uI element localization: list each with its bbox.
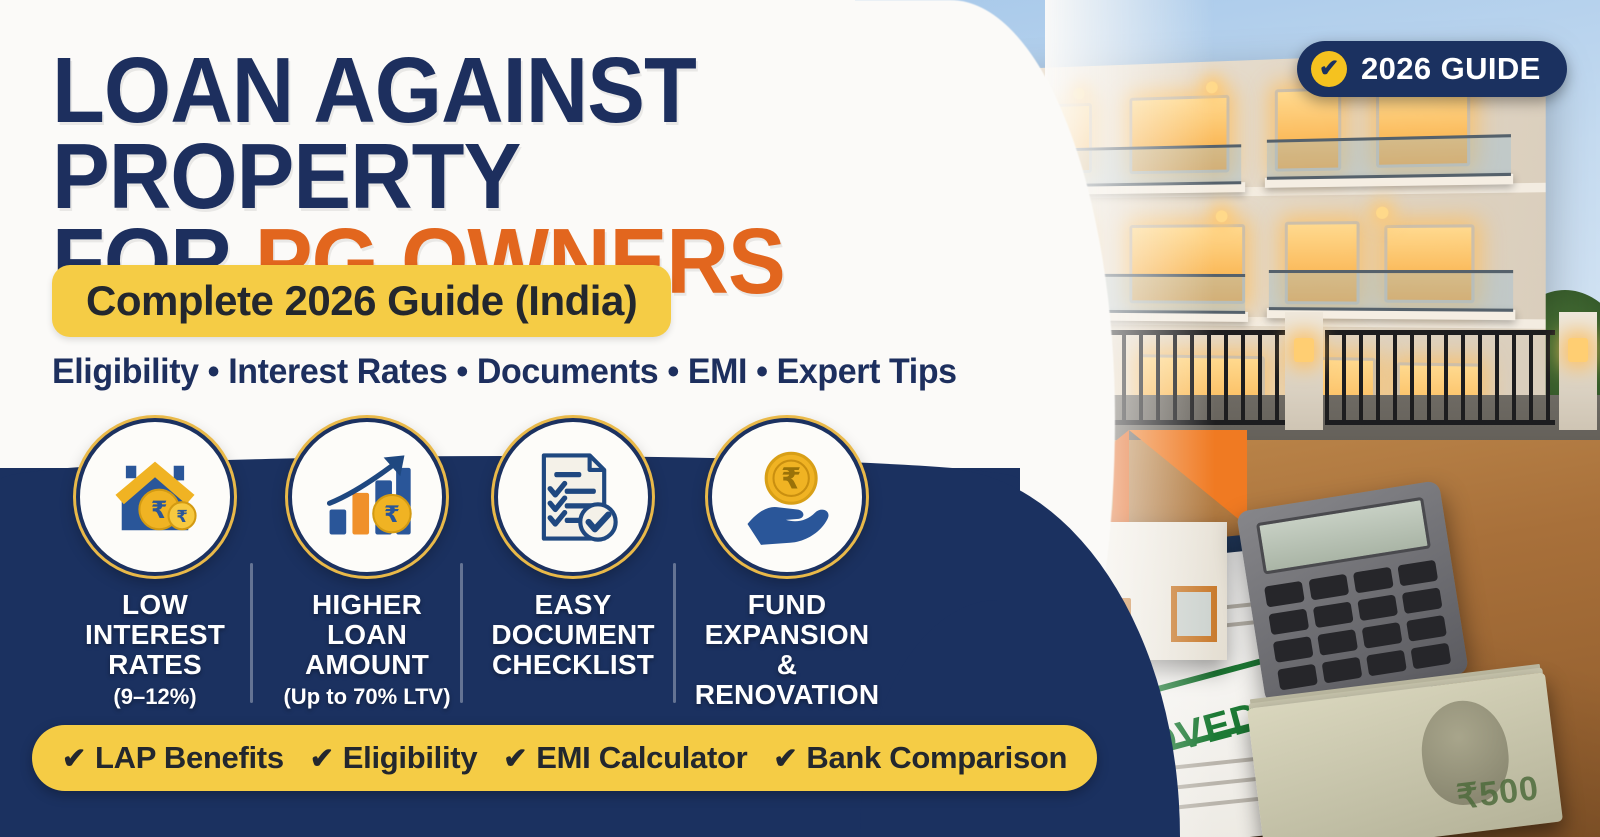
document-checklist-icon: [494, 418, 652, 576]
check-icon: ✔: [503, 741, 527, 776]
feature-easy-document-checklist: EASY DOCUMENT CHECKLIST: [473, 418, 673, 684]
check-icon: ✔: [62, 741, 86, 776]
headline-line-1: LOAN AGAINST PROPERTY: [52, 48, 991, 219]
fence: [1325, 330, 1555, 425]
feature-title: EASY DOCUMENT CHECKLIST: [473, 590, 673, 680]
feature-title-line: EASY: [473, 590, 673, 620]
feature-title-line: RATES: [55, 650, 255, 680]
cta-item-eligibility[interactable]: ✔ Eligibility: [310, 740, 478, 776]
feature-title-line: EXPANSION: [687, 620, 887, 650]
gate-pillar: [1285, 312, 1323, 430]
guide-badge-label: 2026 GUIDE: [1361, 51, 1541, 87]
subtitle-pill: Complete 2026 Guide (India): [52, 265, 671, 337]
check-circle-icon: ✔: [1311, 51, 1347, 87]
feature-title-line: HIGHER: [267, 590, 467, 620]
svg-text:₹: ₹: [151, 496, 168, 524]
house-rupee-icon: ₹ ₹: [76, 418, 234, 576]
feature-subtitle: (9–12%): [55, 684, 255, 710]
feature-columns: ₹ ₹ LOW INTEREST RATES (9–12%): [55, 418, 905, 718]
feature-fund-expansion-renovation: ₹ FUND EXPANSION & RENOVATION: [687, 418, 887, 714]
feature-title: LOW INTEREST RATES: [55, 590, 255, 680]
svg-text:₹: ₹: [384, 502, 400, 528]
subtitle-text: Complete 2026 Guide (India): [86, 277, 637, 325]
lap-pg-owners-banner: LOAN APPROVED: [0, 0, 1600, 837]
hand-rupee-coin-icon: ₹: [708, 418, 866, 576]
feature-title: HIGHER LOAN AMOUNT: [267, 590, 467, 680]
check-icon: ✔: [773, 741, 797, 776]
feature-subtitle: (Up to 70% LTV): [267, 684, 467, 710]
cta-item-emi-calculator[interactable]: ✔ EMI Calculator: [503, 740, 747, 776]
svg-text:₹: ₹: [176, 507, 188, 526]
calculator: [1236, 480, 1469, 705]
check-icon: ✔: [310, 741, 334, 776]
feature-title-line: FUND: [687, 590, 887, 620]
feature-title-line: LOAN: [267, 620, 467, 650]
feature-title-line: LOW: [55, 590, 255, 620]
svg-text:₹: ₹: [781, 462, 801, 496]
cta-item-lap-benefits[interactable]: ✔ LAP Benefits: [62, 740, 284, 776]
feature-keywords-line: Eligibility • Interest Rates • Documents…: [52, 352, 957, 392]
cta-label: EMI Calculator: [536, 740, 747, 776]
cta-pill: ✔ LAP Benefits ✔ Eligibility ✔ EMI Calcu…: [32, 725, 1097, 791]
cta-label: Bank Comparison: [806, 740, 1067, 776]
cta-label: LAP Benefits: [95, 740, 284, 776]
cta-label: Eligibility: [343, 740, 478, 776]
feature-title-line: CHECKLIST: [473, 650, 673, 680]
feature-title-line: & RENOVATION: [687, 650, 887, 710]
feature-title-line: AMOUNT: [267, 650, 467, 680]
feature-title: FUND EXPANSION & RENOVATION: [687, 590, 887, 710]
cta-item-bank-comparison[interactable]: ✔ Bank Comparison: [773, 740, 1067, 776]
feature-title-line: DOCUMENT: [473, 620, 673, 650]
feature-higher-loan-amount: ₹ HIGHER LOAN AMOUNT (Up to 70% LTV): [267, 418, 467, 710]
feature-low-interest-rates: ₹ ₹ LOW INTEREST RATES (9–12%): [55, 418, 255, 710]
guide-badge: ✔ 2026 GUIDE: [1297, 41, 1567, 97]
feature-title-line: INTEREST: [55, 620, 255, 650]
column-divider: [673, 563, 676, 703]
gate-pillar: [1559, 312, 1597, 430]
growth-chart-rupee-icon: ₹: [288, 418, 446, 576]
